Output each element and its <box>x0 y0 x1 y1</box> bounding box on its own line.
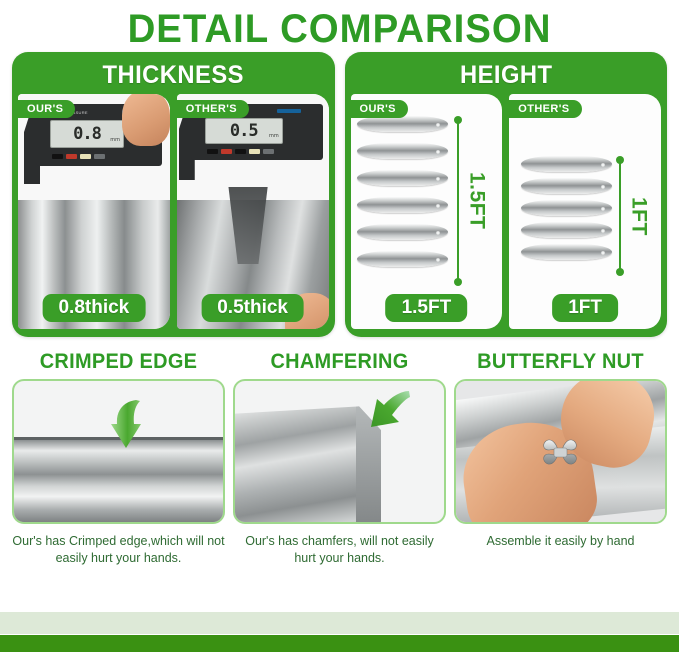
page-title: DETAIL COMPARISON <box>14 0 666 52</box>
owner-badge-ours: OUR'S <box>18 100 75 118</box>
caliper-lcd: 0.5 mm <box>205 118 283 144</box>
feature-butterfly-nut: BUTTERFLY NUT <box>454 349 667 572</box>
arrow-down-icon <box>110 398 144 450</box>
feature-photo-chamfering <box>233 379 446 524</box>
footer-band-green <box>0 635 679 652</box>
feature-caption-butterfly-nut: Assemble it easily by hand <box>454 524 667 550</box>
feature-title-butterfly-nut: BUTTERFLY NUT <box>459 349 661 379</box>
coil-ring <box>357 143 448 159</box>
caliper-off-button <box>52 154 63 159</box>
owner-badge-others: OTHER'S <box>177 100 249 118</box>
coil-ring <box>357 251 448 267</box>
panel-title-height: HEIGHT <box>358 58 653 94</box>
coil-image <box>357 116 448 284</box>
measure-indicator-others: 1FT <box>619 160 659 272</box>
feature-title-chamfering: CHAMFERING <box>238 349 440 379</box>
coil-ring <box>521 244 612 260</box>
caliper-on-button <box>221 149 232 154</box>
panel-cards-thickness: OUR'S MEASURE 0.8 mm <box>18 94 329 329</box>
caliper-off-button <box>207 149 218 154</box>
owner-badge-ours: OUR'S <box>351 100 408 118</box>
caliper-reading-unit: mm <box>110 137 120 143</box>
finger <box>122 94 170 146</box>
owner-badge-others: OTHER'S <box>509 100 581 118</box>
feature-crimped-edge: CRIMPED EDGE Our's has Crimped edge,whic… <box>12 349 225 572</box>
coil-ring <box>357 170 448 186</box>
butterfly-nut-icon <box>540 437 580 467</box>
pipe-surface <box>14 437 223 522</box>
spec-card-ours-height: OUR'S 1.5FT 1.5FT <box>351 94 503 329</box>
caliper-button-row <box>207 149 274 154</box>
measure-line <box>457 120 459 282</box>
compare-panel-height: HEIGHT OUR'S 1.5FT <box>345 52 668 337</box>
compare-row: THICKNESS OUR'S MEASURE 0.8 mm <box>0 52 679 337</box>
caliper-reading-value: 0.5 <box>230 121 258 141</box>
caliper-lcd: 0.8 mm <box>50 120 124 148</box>
caliper-zero-button <box>249 149 260 154</box>
caliper-on-button <box>66 154 77 159</box>
compare-panel-thickness: THICKNESS OUR'S MEASURE 0.8 mm <box>12 52 335 337</box>
panel-cards-height: OUR'S 1.5FT 1.5FT <box>351 94 662 329</box>
feature-caption-chamfering: Our's has chamfers, will not easily hurt… <box>233 524 446 567</box>
feature-photo-crimped-edge <box>12 379 225 524</box>
measure-label: 1.5FT <box>465 172 489 229</box>
measure-indicator-ours: 1.5FT <box>457 120 501 282</box>
feature-caption-crimped-edge: Our's has Crimped edge,which will not ea… <box>12 524 225 567</box>
feature-title-crimped-edge: CRIMPED EDGE <box>17 349 219 379</box>
feature-photo-butterfly-nut <box>454 379 667 524</box>
spec-card-others-thickness: OTHER'S MEASURE 0.5 mm <box>177 94 329 329</box>
value-badge-ours-thickness: 0.8thick <box>42 294 145 322</box>
coil-ring <box>521 156 612 172</box>
caliper-unit-button <box>263 149 274 154</box>
coil-ring <box>521 222 612 238</box>
coil-ring <box>521 178 612 194</box>
value-badge-others-thickness: 0.5thick <box>201 294 304 322</box>
pipe-chamfered-end <box>233 406 381 524</box>
spec-card-ours-thickness: OUR'S MEASURE 0.8 mm <box>18 94 170 329</box>
caliper-reading-unit: mm <box>269 133 279 139</box>
spec-card-others-height: OTHER'S 1FT 1FT <box>509 94 661 329</box>
measure-line <box>619 160 621 272</box>
measure-label: 1FT <box>627 197 651 236</box>
coil-ring <box>357 116 448 132</box>
feature-row: CRIMPED EDGE Our's has Crimped edge,whic… <box>0 337 679 572</box>
coil-ring <box>357 197 448 213</box>
caliper-button-row <box>52 154 105 159</box>
caliper-hold-button <box>235 149 246 154</box>
caliper-unit-button <box>94 154 105 159</box>
coil-ring <box>357 224 448 240</box>
photo-background <box>456 381 665 522</box>
value-badge-others-height: 1FT <box>552 294 618 322</box>
caliper-brand-strip <box>277 109 301 113</box>
coil-ring <box>521 200 612 216</box>
value-badge-ours-height: 1.5FT <box>386 294 468 322</box>
arrow-diagonal-icon <box>367 389 411 437</box>
feature-chamfering: CHAMFERING Our's has chamfers, will not … <box>233 349 446 572</box>
caliper-reading-value: 0.8 <box>73 124 101 144</box>
footer-band-light <box>0 612 679 634</box>
caliper-zero-button <box>80 154 91 159</box>
panel-title-thickness: THICKNESS <box>26 58 321 94</box>
coil-image <box>521 156 612 274</box>
